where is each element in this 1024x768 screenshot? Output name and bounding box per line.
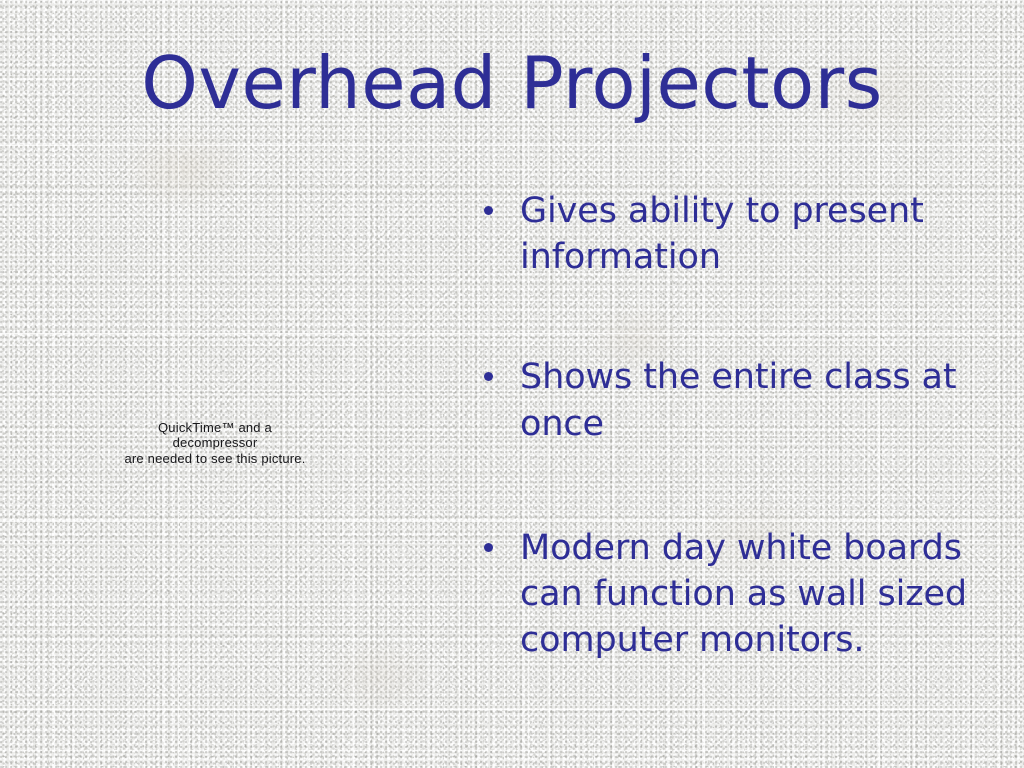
tile-seam-horizontal bbox=[0, 709, 1024, 710]
list-item: Shows the entire class at once bbox=[478, 354, 978, 446]
slide-title: Overhead Projectors bbox=[0, 46, 1024, 122]
tile-seam-horizontal bbox=[0, 145, 1024, 146]
bullet-dot-icon bbox=[484, 543, 493, 552]
placeholder-line-3: are needed to see this picture. bbox=[66, 451, 364, 466]
list-item: Modern day white boards can function as … bbox=[478, 525, 978, 664]
placeholder-line-1: QuickTime™ and a bbox=[66, 420, 364, 435]
presentation-slide: Overhead Projectors Gives ability to pre… bbox=[0, 0, 1024, 768]
list-item-label: Shows the entire class at once bbox=[520, 357, 957, 443]
bullet-dot-icon bbox=[484, 206, 493, 215]
placeholder-line-2: decompressor bbox=[66, 435, 364, 450]
bullet-dot-icon bbox=[484, 372, 493, 381]
bullet-list: Gives ability to present information Sho… bbox=[478, 188, 978, 663]
list-item-label: Gives ability to present information bbox=[520, 191, 924, 277]
quicktime-image-placeholder: QuickTime™ and a decompressor are needed… bbox=[66, 420, 364, 466]
list-item: Gives ability to present information bbox=[478, 188, 978, 280]
list-item-label: Modern day white boards can function as … bbox=[520, 528, 967, 660]
